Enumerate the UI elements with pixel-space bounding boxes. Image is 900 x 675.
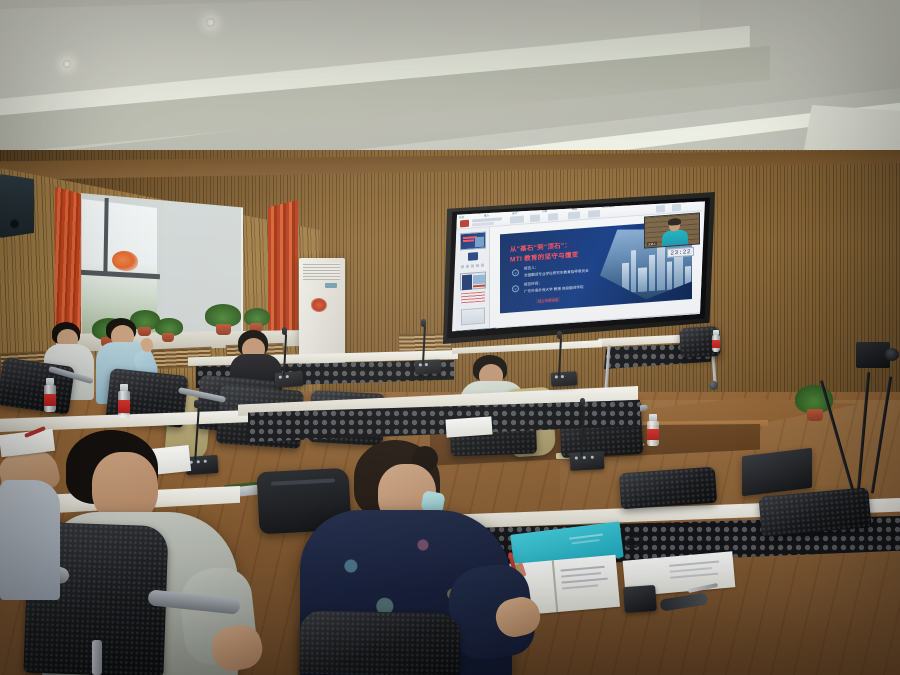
water-bottle[interactable] xyxy=(118,384,130,418)
downlight-icon xyxy=(206,18,215,27)
microphone-capsule-icon xyxy=(282,327,287,335)
conference-room-photo: WPS 演示 开始 插入 设计 切换 动画 幻灯片放映 审阅 视图 xyxy=(0,0,900,675)
video-participant-body xyxy=(662,229,688,248)
slide-tagline: 线上专题讲座 xyxy=(536,297,560,304)
thumbnail-divider xyxy=(461,264,485,269)
slide-row-label-2: 报告时间： xyxy=(524,281,542,287)
table-caster xyxy=(709,381,718,390)
slide-badge-icon xyxy=(468,252,478,261)
ribbon-group-design[interactable]: 设计 xyxy=(512,211,517,215)
ribbon-select-icon[interactable] xyxy=(672,204,681,212)
ribbon-group-insert[interactable]: 插入 xyxy=(484,213,489,217)
ac-decal-icon xyxy=(311,298,327,312)
chair[interactable] xyxy=(619,467,717,510)
ribbon-group-home[interactable]: 开始 xyxy=(459,215,464,219)
water-bottle[interactable] xyxy=(712,330,720,352)
conference-microphone[interactable] xyxy=(570,451,605,471)
ribbon-arrange-icon[interactable] xyxy=(548,213,558,221)
microphone-capsule-icon xyxy=(580,398,585,406)
slide-thumbnail-panel[interactable] xyxy=(456,227,490,331)
conference-microphone[interactable] xyxy=(415,359,442,374)
ribbon-find-icon[interactable] xyxy=(656,205,665,213)
water-bottle[interactable] xyxy=(44,378,56,412)
smartphone[interactable] xyxy=(623,585,657,613)
slide-bullet-icon: ① xyxy=(512,269,519,277)
camera-lens-icon xyxy=(885,348,899,361)
conference-microphone[interactable] xyxy=(275,371,304,388)
slide-thumbnail[interactable] xyxy=(460,231,486,250)
attendee-partial-left xyxy=(0,480,60,600)
ribbon-paste-icon[interactable] xyxy=(460,220,469,228)
ribbon-styles-icon[interactable] xyxy=(568,211,580,219)
ribbon-size-box[interactable] xyxy=(472,222,494,227)
paper-sheet xyxy=(445,416,492,437)
video-participant-name: 主讲人 xyxy=(647,242,657,247)
ac-display-panel xyxy=(325,283,337,288)
air-conditioner-unit[interactable] xyxy=(299,258,345,368)
chair-gas-post xyxy=(92,640,102,675)
ribbon-shapes-icon[interactable] xyxy=(530,214,540,222)
microphone-capsule-icon xyxy=(557,331,562,339)
thumbnail-text-lines xyxy=(461,292,485,304)
slide-row-label-1: 报告人： xyxy=(524,266,538,272)
chair[interactable] xyxy=(0,357,75,415)
video-call-tile[interactable]: 主讲人 xyxy=(644,212,700,248)
display-screen[interactable]: WPS 演示 开始 插入 设计 切换 动画 幻灯片放映 审阅 视图 xyxy=(452,200,705,334)
downlight-icon xyxy=(63,60,71,68)
ac-vent-louvers xyxy=(303,263,340,280)
ribbon-paragraph-icon[interactable] xyxy=(510,216,524,224)
slide-thumbnail[interactable] xyxy=(460,271,486,290)
water-bottle[interactable] xyxy=(647,414,659,446)
video-participant-hair xyxy=(668,218,681,226)
conference-microphone[interactable] xyxy=(551,371,578,386)
slide-canvas[interactable]: 从"基石"到"顶石"： MTI 教育的坚守与嬗变 ① 报告人： 全国翻译专业学位… xyxy=(490,211,702,328)
slide-thumbnail[interactable] xyxy=(461,308,485,326)
curtain-right[interactable] xyxy=(268,200,298,345)
ribbon-effects-icon[interactable] xyxy=(588,210,600,218)
slide-bullet-icon: ② xyxy=(512,285,519,293)
speaker-cone-icon xyxy=(8,218,21,230)
chair[interactable] xyxy=(299,611,460,675)
microphone-capsule-icon xyxy=(421,319,426,327)
microphone-capsule-icon xyxy=(194,400,199,408)
